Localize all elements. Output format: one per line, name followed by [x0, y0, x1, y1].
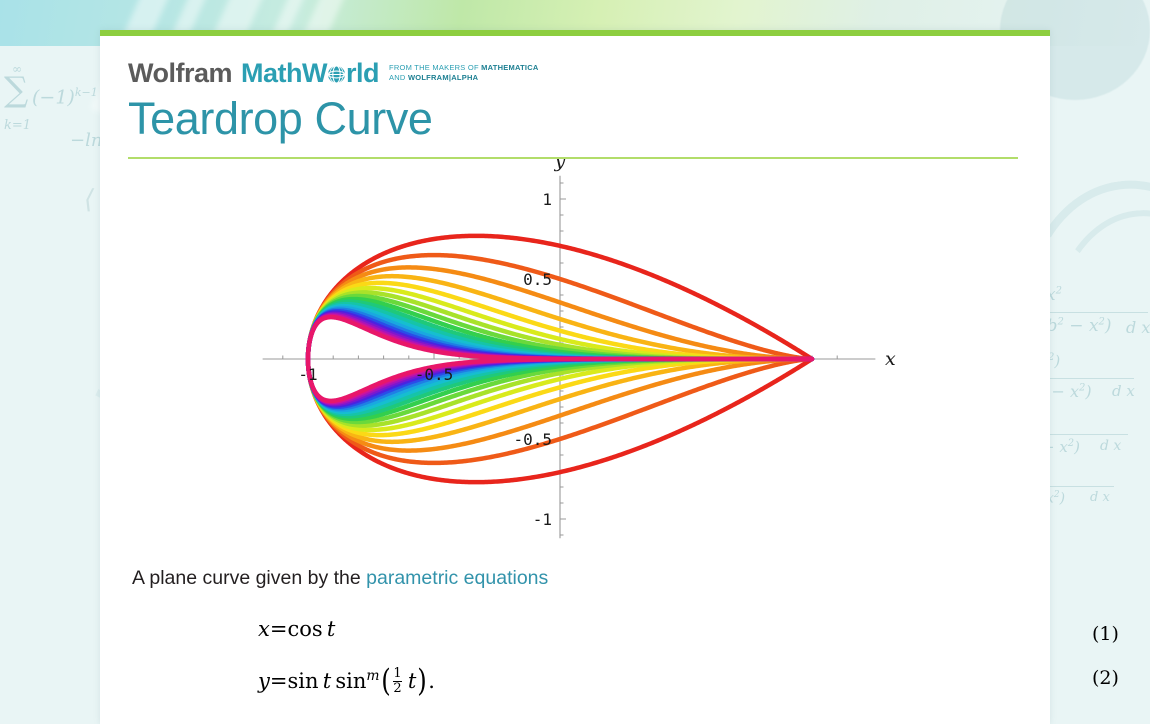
decor-differential-3: d x	[1100, 438, 1121, 454]
equation-y-body: y=sin t sinm(12 t).	[258, 661, 435, 697]
content-card: Wolfram MathW rld FROM THE MAKERS OF MAT…	[100, 30, 1050, 724]
globe-icon	[327, 62, 346, 81]
x-tick-label: -0.5	[415, 365, 454, 384]
decor-differential-4: d x	[1090, 490, 1110, 505]
eq2-variable-t1: t	[323, 669, 331, 693]
y-axis-label: y	[554, 159, 566, 172]
y-tick-label: 1	[542, 190, 552, 209]
decor-denominator-1: (b2 − x2)	[1040, 316, 1112, 336]
eq1-variable-t: t	[327, 617, 335, 641]
eq2-variable-t2: t	[404, 669, 417, 693]
decor-fraction-rule	[1040, 312, 1148, 313]
eq1-lhs: x	[258, 617, 270, 641]
tagline-line-2: AND WOLFRAM|ALPHA	[389, 73, 478, 82]
intro-paragraph: A plane curve given by the parametric eq…	[132, 565, 1050, 591]
logo-mathworld-head: MathW	[241, 60, 327, 87]
equation-number-2: (2)	[1092, 667, 1119, 689]
eq2-relation: =	[270, 669, 288, 693]
decor-fraction-rule	[1038, 378, 1134, 379]
decor-differential-2: d x	[1112, 382, 1135, 400]
decor-log-term: −ln	[70, 130, 102, 151]
page-title: Teardrop Curve	[128, 93, 1050, 145]
eq2-open-paren: (	[381, 664, 391, 699]
decor-alternating-term: (−1)k−1	[32, 86, 98, 108]
equation-x-body: x=cos t	[258, 617, 335, 641]
y-tick-label: 0.5	[523, 270, 552, 289]
decor-sum-lower-limit: k=1	[4, 118, 31, 133]
eq2-period: .	[428, 669, 435, 693]
logo-mathworld-tail: rld	[346, 60, 379, 87]
x-axis-label: x	[885, 348, 896, 370]
eq2-lhs: y	[258, 669, 270, 693]
decor-angle-glyph: ⟨	[84, 185, 94, 215]
x-tick-label: -1	[298, 365, 317, 384]
logo-mathworld-text: MathW rld	[241, 60, 379, 87]
equation-row-1: x=cos t (1)	[258, 617, 1050, 661]
teardrop-curve-figure[interactable]: -1-0.510.5-0.5-1xy	[100, 159, 1050, 559]
eq1-cos: cos	[287, 617, 326, 641]
logo-wolfram-text: Wolfram	[128, 60, 232, 87]
teardrop-curve-plot[interactable]: -1-0.510.5-0.5-1xy	[100, 159, 1050, 559]
equation-row-2: y=sin t sinm(12 t). (2)	[258, 661, 1050, 705]
eq1-relation: =	[270, 617, 288, 641]
eq2-exponent-m: m	[366, 668, 379, 684]
tagline-line-1: FROM THE MAKERS OF MATHEMATICA	[389, 63, 539, 72]
decor-fraction-rule	[1044, 486, 1114, 487]
eq2-sin-2: sin	[331, 669, 366, 693]
eq2-fraction-half: 12	[393, 667, 401, 695]
plot-labels: -1-0.510.5-0.5-1xy	[298, 159, 896, 529]
logo-tagline: FROM THE MAKERS OF MATHEMATICA AND WOLFR…	[389, 63, 539, 83]
equation-number-1: (1)	[1092, 623, 1119, 645]
y-tick-label: -1	[533, 510, 552, 529]
decor-sigma-icon: ∑	[4, 70, 28, 110]
eq2-close-paren: )	[418, 664, 428, 699]
y-tick-label: -0.5	[513, 430, 552, 449]
site-masthead[interactable]: Wolfram MathW rld FROM THE MAKERS OF MAT…	[100, 36, 1050, 87]
intro-text: A plane curve given by the	[132, 567, 366, 589]
parametric-equations-link[interactable]: parametric equations	[366, 567, 548, 589]
decor-fraction-rule	[1040, 434, 1128, 435]
decor-differential-1: d x	[1126, 318, 1150, 337]
decor-infinity-icon: ∞	[12, 62, 22, 76]
eq2-sin-1: sin	[287, 669, 322, 693]
